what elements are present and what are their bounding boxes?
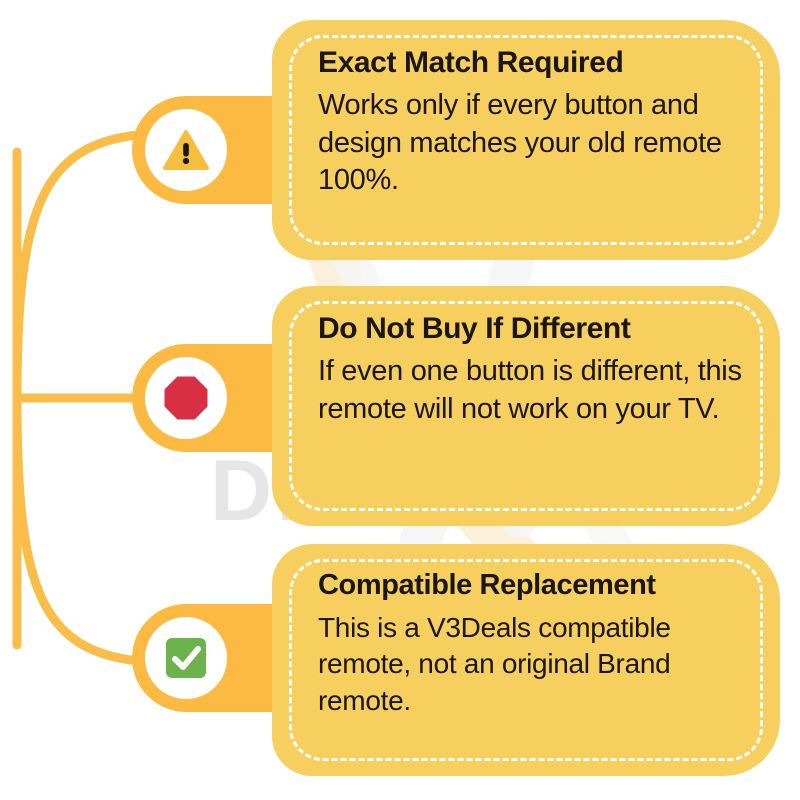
- card-compatible-replacement: Compatible Replacement This is a V3Deals…: [272, 544, 780, 776]
- card-body-do-not-buy: If even one button is different, this re…: [318, 353, 746, 428]
- card-title-exact-match: Exact Match Required: [318, 46, 746, 79]
- connector-branch-bottom: [17, 398, 150, 662]
- stop-octagon-icon: [163, 375, 209, 421]
- card-title-do-not-buy: Do Not Buy If Different: [318, 312, 746, 345]
- card-body-compatible-replacement: This is a V3Deals compatible remote, not…: [318, 610, 746, 719]
- card-title-compatible-replacement: Compatible Replacement: [318, 570, 746, 602]
- infographic-canvas: DEALS Exact Match Required Works only if…: [0, 0, 800, 800]
- icon-badge-do-not-buy: [145, 357, 227, 439]
- check-square-icon: [163, 635, 209, 681]
- icon-badge-compatible-replacement: [145, 617, 227, 699]
- icon-badge-exact-match: [145, 109, 227, 191]
- card-exact-match: Exact Match Required Works only if every…: [272, 20, 780, 260]
- card-body-exact-match: Works only if every button and design ma…: [318, 87, 746, 200]
- warning-triangle-icon: [160, 124, 212, 176]
- connector-branch-top: [17, 134, 150, 400]
- card-do-not-buy: Do Not Buy If Different If even one butt…: [272, 286, 780, 526]
